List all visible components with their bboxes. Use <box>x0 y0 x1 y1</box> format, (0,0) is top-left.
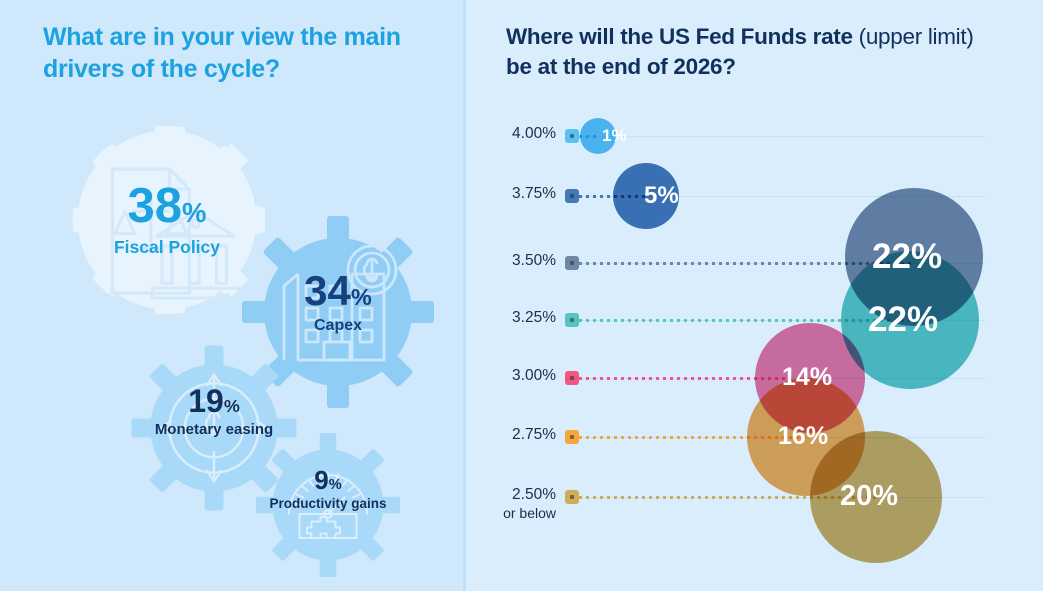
chart-gridline <box>565 136 985 137</box>
chart-axis-label-value: 3.75% <box>512 185 556 202</box>
chart-axis-label-value: 3.50% <box>512 252 556 269</box>
chart-axis-label: 3.75% <box>512 185 556 203</box>
chart-bubble-value: 5 <box>644 182 657 209</box>
chart-axis-label-value: 3.00% <box>512 367 556 384</box>
chart-axis-label-value: 4.00% <box>512 125 556 142</box>
chart-bubble-value: 14 <box>782 363 810 391</box>
chart-bubble-percent-sign: % <box>806 422 828 450</box>
chart-bubble-label: 22% <box>872 239 942 274</box>
chart-axis-label-value: 3.25% <box>512 309 556 326</box>
chart-bubble-value: 22 <box>872 237 911 276</box>
chart-series-marker[interactable] <box>565 490 579 504</box>
chart-bubble-label: 16% <box>778 424 828 449</box>
chart-bubble-label: 1% <box>602 127 627 144</box>
chart-axis-label: 3.50% <box>512 252 556 270</box>
chart-axis-label-sub: or below <box>503 505 556 521</box>
chart-axis-label: 3.00% <box>512 367 556 385</box>
chart-bubble-label: 14% <box>782 365 832 390</box>
chart-bubble-value: 22 <box>868 300 907 339</box>
chart-bubble-percent-sign: % <box>810 363 832 391</box>
chart-bubble-percent-sign: % <box>872 480 898 512</box>
gear-shape-icon <box>256 433 400 577</box>
chart-axis-label: 2.50%or below <box>503 486 556 521</box>
chart-series-marker[interactable] <box>565 189 579 203</box>
chart-axis-label: 3.25% <box>512 309 556 327</box>
chart-series-marker[interactable] <box>565 129 579 143</box>
chart-bubble-percent-sign: % <box>907 300 938 339</box>
chart-axis-label: 2.75% <box>512 426 556 444</box>
chart-axis-label-value: 2.50% <box>512 486 556 503</box>
chart-bubble-value: 16 <box>778 422 806 450</box>
fed-funds-bubble-chart: 4.00%3.75%3.50%3.25%3.00%2.75%2.50%or be… <box>465 0 1043 591</box>
chart-series-marker[interactable] <box>565 371 579 385</box>
chart-bubble-value: 20 <box>840 480 872 512</box>
chart-series-marker[interactable] <box>565 430 579 444</box>
left-panel-title: What are in your view the main drivers o… <box>43 22 403 85</box>
chart-bubble-percent-sign: % <box>611 126 626 145</box>
chart-series-marker[interactable] <box>565 313 579 327</box>
chart-series-marker[interactable] <box>565 256 579 270</box>
chart-axis-label-value: 2.75% <box>512 426 556 443</box>
chart-axis-label: 4.00% <box>512 125 556 143</box>
chart-bubble-percent-sign: % <box>657 182 678 209</box>
chart-bubble-percent-sign: % <box>911 237 942 276</box>
chart-bubble-label: 22% <box>868 302 938 337</box>
chart-bubble-label: 20% <box>840 482 898 511</box>
gear-shape-icon <box>73 126 265 314</box>
chart-bubble-label: 5% <box>644 184 679 208</box>
driver-gear-productivity-gains: 9% Productivity gains <box>253 430 403 580</box>
